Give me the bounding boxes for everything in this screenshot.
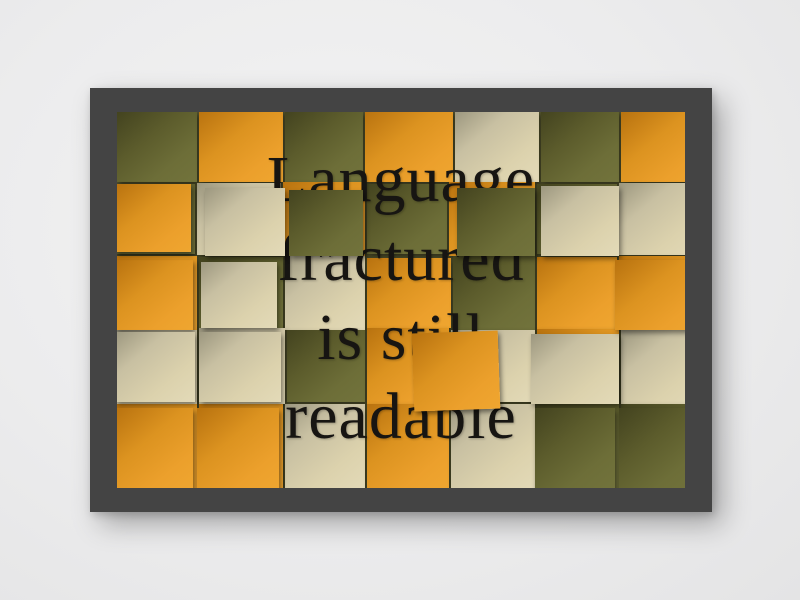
picture-frame: Language fractured is still readable (90, 88, 712, 512)
mosaic-tile-overlay (615, 260, 685, 330)
mosaic-tile-overlay (531, 334, 619, 404)
canvas-stage: Language fractured is still readable (0, 0, 800, 600)
mosaic-plate: Language fractured is still readable (117, 112, 685, 488)
mosaic-tile-overlay (117, 408, 193, 488)
mosaic-tile-overlay (117, 260, 193, 330)
mosaic-tile-overlay (619, 408, 685, 488)
mosaic-tile-overlay (199, 332, 281, 402)
mosaic-tile-overlay (412, 331, 501, 412)
mosaic-tile-overlay (197, 408, 279, 488)
mosaic-tile-overlay (535, 408, 615, 488)
mosaic-tile-overlay (457, 188, 535, 256)
mosaic-tile-overlay (205, 188, 285, 256)
mosaic-tile-overlay (117, 332, 195, 402)
mosaic-tile-layer-over (117, 112, 685, 488)
mosaic-tile-overlay (541, 186, 619, 256)
mosaic-tile-overlay (289, 190, 363, 256)
mosaic-tile-overlay (201, 262, 277, 328)
mosaic-tile-overlay (117, 184, 191, 252)
